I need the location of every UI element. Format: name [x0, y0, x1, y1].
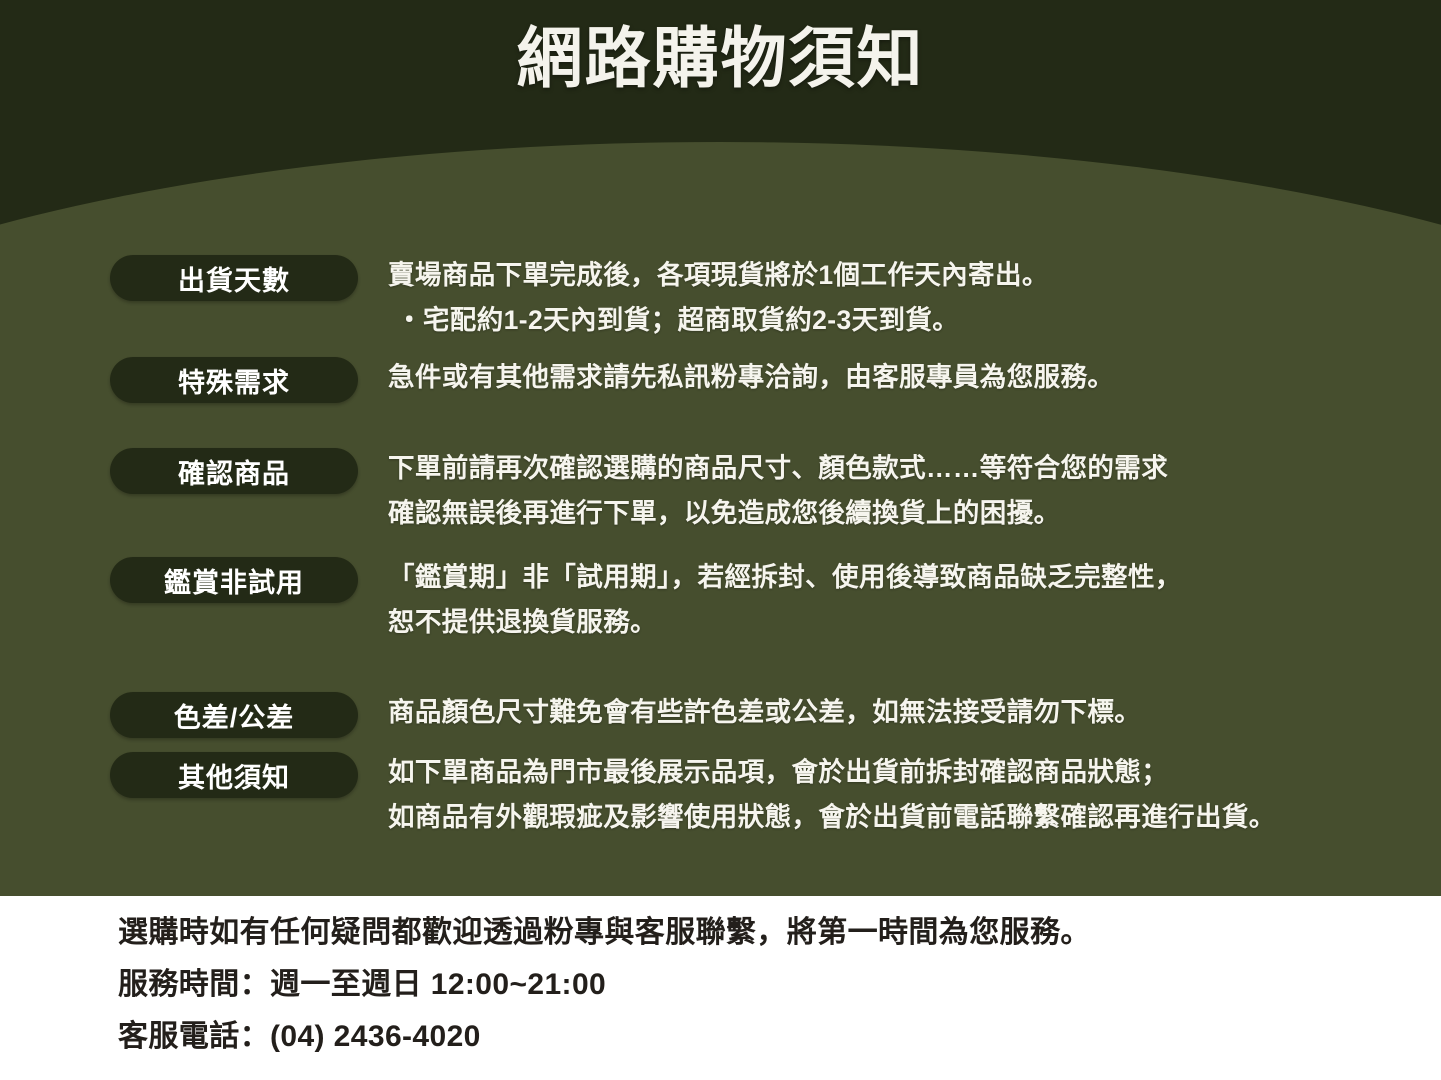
contact-footer: 選購時如有任何疑問都歡迎透過粉專與客服聯繫，將第一時間為您服務。 服務時間：週一… [0, 896, 1441, 1080]
section-line: 下單前請再次確認選購的商品尺寸、顏色款式……等符合您的需求 [388, 455, 1168, 482]
section-inspection-not-trial: 鑑賞非試用 「鑑賞期」非「試用期」，若經拆封、使用後導致商品缺乏完整性， 恕不提… [110, 557, 1182, 635]
section-body-special-requests: 急件或有其他需求請先私訊粉專洽詢，由客服專員為您服務。 [388, 357, 1114, 391]
section-body-inspection-not-trial: 「鑑賞期」非「試用期」，若經拆封、使用後導致商品缺乏完整性， 恕不提供退換貨服務… [388, 557, 1182, 635]
section-shipping-days: 出貨天數 賣場商品下單完成後，各項現貨將於1個工作天內寄出。 ・宅配約1-2天內… [110, 255, 1049, 333]
section-body-confirm-product: 下單前請再次確認選購的商品尺寸、顏色款式……等符合您的需求 確認無誤後再進行下單… [388, 448, 1168, 526]
section-label-shipping-days: 出貨天數 [110, 255, 358, 301]
section-line: 商品顏色尺寸難免會有些許色差或公差，如無法接受請勿下標。 [388, 699, 1141, 726]
footer-contact-invitation: 選購時如有任何疑問都歡迎透過粉專與客服聯繫，將第一時間為您服務。 [118, 918, 1441, 948]
section-line: 恕不提供退換貨服務。 [388, 609, 1182, 636]
section-body-color-size-tolerance: 商品顏色尺寸難免會有些許色差或公差，如無法接受請勿下標。 [388, 692, 1141, 726]
section-line: 「鑑賞期」非「試用期」，若經拆封、使用後導致商品缺乏完整性， [388, 564, 1182, 591]
section-line: ・宅配約1-2天內到貨；超商取貨約2-3天到貨。 [388, 307, 1049, 334]
shopping-notice-page: 網路購物須知 出貨天數 賣場商品下單完成後，各項現貨將於1個工作天內寄出。 ・宅… [0, 0, 1441, 1080]
section-body-other-notices: 如下單商品為門市最後展示品項，會於出貨前拆封確認商品狀態； 如商品有外觀瑕疵及影… [388, 752, 1276, 830]
section-line: 如下單商品為門市最後展示品項，會於出貨前拆封確認商品狀態； [388, 759, 1276, 786]
section-label-confirm-product: 確認商品 [110, 448, 358, 494]
footer-service-phone: 客服電話：(04) 2436-4020 [118, 1022, 1441, 1052]
notice-sections: 出貨天數 賣場商品下單完成後，各項現貨將於1個工作天內寄出。 ・宅配約1-2天內… [0, 0, 1441, 896]
section-color-size-tolerance: 色差/公差 商品顏色尺寸難免會有些許色差或公差，如無法接受請勿下標。 [110, 692, 1141, 738]
section-other-notices: 其他須知 如下單商品為門市最後展示品項，會於出貨前拆封確認商品狀態； 如商品有外… [110, 752, 1276, 830]
section-line: 急件或有其他需求請先私訊粉專洽詢，由客服專員為您服務。 [388, 364, 1114, 391]
section-body-shipping-days: 賣場商品下單完成後，各項現貨將於1個工作天內寄出。 ・宅配約1-2天內到貨；超商… [388, 255, 1049, 333]
footer-service-hours: 服務時間：週一至週日 12:00~21:00 [118, 970, 1441, 1000]
section-line: 賣場商品下單完成後，各項現貨將於1個工作天內寄出。 [388, 262, 1049, 289]
section-special-requests: 特殊需求 急件或有其他需求請先私訊粉專洽詢，由客服專員為您服務。 [110, 357, 1114, 403]
section-label-color-size-tolerance: 色差/公差 [110, 692, 358, 738]
section-label-inspection-not-trial: 鑑賞非試用 [110, 557, 358, 603]
section-line: 確認無誤後再進行下單，以免造成您後續換貨上的困擾。 [388, 500, 1168, 527]
section-label-special-requests: 特殊需求 [110, 357, 358, 403]
section-line: 如商品有外觀瑕疵及影響使用狀態，會於出貨前電話聯繫確認再進行出貨。 [388, 804, 1276, 831]
section-label-other-notices: 其他須知 [110, 752, 358, 798]
section-confirm-product: 確認商品 下單前請再次確認選購的商品尺寸、顏色款式……等符合您的需求 確認無誤後… [110, 448, 1168, 526]
